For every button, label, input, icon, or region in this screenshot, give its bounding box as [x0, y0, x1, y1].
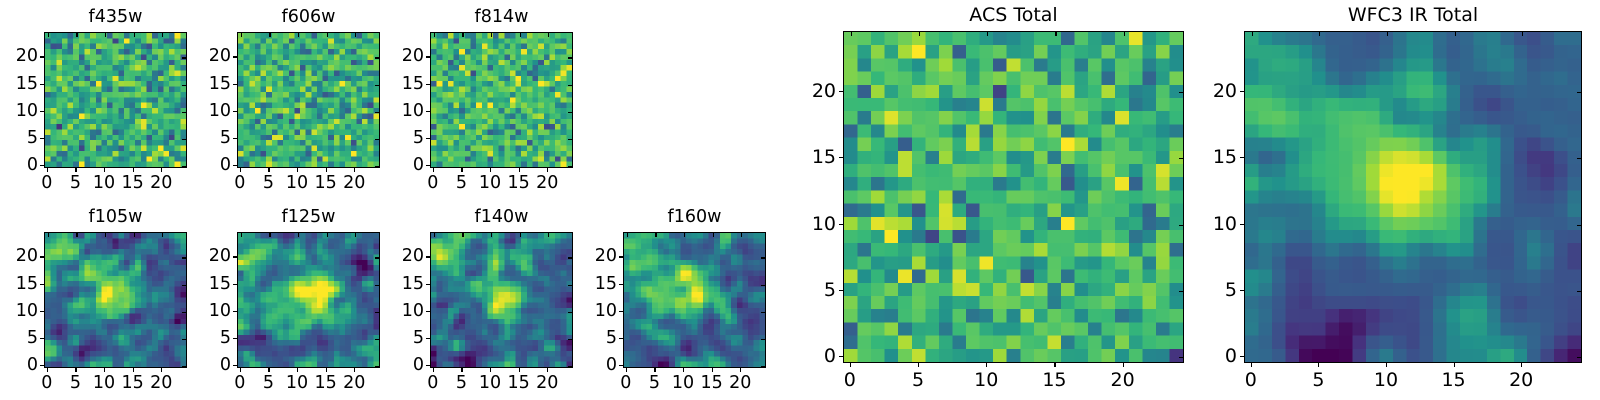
- y-tick-inner: [375, 139, 379, 140]
- x-tick-inner: [1252, 32, 1253, 36]
- x-tick-label: 5: [70, 173, 81, 193]
- x-tick-inner: [48, 233, 49, 237]
- panel-title: f435w: [89, 7, 143, 27]
- y-tick-label: 20: [16, 246, 38, 266]
- y-tick-inner: [568, 257, 572, 258]
- panel-title: f606w: [282, 7, 336, 27]
- y-tick-label: 10: [209, 301, 231, 321]
- x-tick-inner: [520, 233, 521, 237]
- x-tick: [490, 168, 491, 172]
- y-tick-inner: [1179, 92, 1183, 93]
- x-tick: [47, 368, 48, 372]
- x-tick: [986, 363, 987, 367]
- y-tick: [426, 111, 430, 112]
- x-tick-label: 5: [1312, 369, 1324, 391]
- x-tick: [1318, 363, 1319, 367]
- y-tick-inner: [182, 339, 186, 340]
- x-tick-inner: [627, 233, 628, 237]
- x-tick-inner: [919, 32, 920, 36]
- y-tick-label: 5: [27, 128, 38, 148]
- x-tick-label: 15: [315, 173, 337, 193]
- y-tick-inner: [182, 312, 186, 313]
- panel-f606w: f606w0510152005101520: [237, 32, 380, 168]
- y-tick-inner: [182, 285, 186, 286]
- y-tick-inner: [375, 85, 379, 86]
- x-tick-label: 10: [479, 173, 501, 193]
- y-tick: [426, 56, 430, 57]
- y-tick-inner: [1577, 158, 1581, 159]
- y-tick-inner: [568, 85, 572, 86]
- x-tick-inner: [241, 33, 242, 37]
- heatmap-image: [45, 33, 186, 167]
- x-tick-label: 5: [912, 369, 924, 391]
- x-tick-label: 15: [122, 173, 144, 193]
- y-tick: [426, 338, 430, 339]
- x-tick-inner: [741, 233, 742, 237]
- x-tick: [1521, 363, 1522, 367]
- x-tick-label: 10: [479, 373, 501, 393]
- x-tick-label: 0: [620, 373, 631, 393]
- y-tick-inner: [568, 285, 572, 286]
- y-tick-label: 10: [16, 101, 38, 121]
- x-tick-inner: [1124, 32, 1125, 36]
- y-tick: [233, 365, 237, 366]
- y-tick-label: 0: [220, 155, 231, 175]
- x-tick: [433, 368, 434, 372]
- panel-title: f160w: [668, 207, 722, 227]
- x-tick-inner: [987, 32, 988, 36]
- y-tick: [40, 165, 44, 166]
- y-tick: [619, 338, 623, 339]
- y-tick: [839, 290, 843, 291]
- x-tick-label: 20: [536, 173, 558, 193]
- x-tick-inner: [1055, 32, 1056, 36]
- y-tick: [40, 56, 44, 57]
- x-tick-label: 5: [456, 173, 467, 193]
- y-tick-inner: [568, 166, 572, 167]
- x-tick: [133, 368, 134, 372]
- x-tick-inner: [76, 233, 77, 237]
- x-tick-label: 0: [41, 173, 52, 193]
- heatmap-image: [238, 233, 379, 367]
- y-tick-inner: [375, 257, 379, 258]
- y-tick-label: 5: [413, 128, 424, 148]
- x-tick: [461, 168, 462, 172]
- panel-axes: [623, 232, 766, 368]
- y-tick-inner: [1179, 158, 1183, 159]
- y-tick-label: 15: [402, 274, 424, 294]
- x-tick-inner: [462, 233, 463, 237]
- x-tick-inner: [105, 33, 106, 37]
- y-tick-label: 15: [595, 274, 617, 294]
- y-tick-label: 0: [606, 355, 617, 375]
- y-tick: [40, 138, 44, 139]
- y-tick: [619, 256, 623, 257]
- x-tick-label: 15: [701, 373, 723, 393]
- y-tick-label: 20: [209, 46, 231, 66]
- x-tick-label: 10: [974, 369, 998, 391]
- x-tick-label: 10: [672, 373, 694, 393]
- y-tick-inner: [1577, 92, 1581, 93]
- x-tick: [461, 368, 462, 372]
- x-tick-label: 0: [427, 173, 438, 193]
- y-tick-inner: [1577, 291, 1581, 292]
- y-tick: [1240, 157, 1244, 158]
- y-tick: [1240, 356, 1244, 357]
- y-tick: [233, 256, 237, 257]
- x-tick-label: 15: [315, 373, 337, 393]
- x-tick: [75, 368, 76, 372]
- panel-f125w: f125w0510152005101520: [237, 232, 380, 368]
- x-tick: [104, 368, 105, 372]
- x-tick-inner: [1522, 32, 1523, 36]
- x-tick-label: 5: [456, 373, 467, 393]
- y-tick-label: 20: [402, 46, 424, 66]
- y-tick-inner: [568, 366, 572, 367]
- x-tick-inner: [134, 233, 135, 237]
- y-tick-inner: [1179, 291, 1183, 292]
- x-tick: [297, 368, 298, 372]
- y-tick: [619, 284, 623, 285]
- y-tick-inner: [568, 139, 572, 140]
- x-tick: [268, 368, 269, 372]
- y-tick-label: 5: [606, 328, 617, 348]
- y-tick-inner: [1179, 225, 1183, 226]
- y-tick-label: 15: [16, 274, 38, 294]
- y-tick-inner: [182, 112, 186, 113]
- x-tick-inner: [434, 33, 435, 37]
- panel-title: ACS Total: [969, 4, 1057, 26]
- y-tick-inner: [1179, 357, 1183, 358]
- x-tick-label: 15: [1042, 369, 1066, 391]
- y-tick-label: 20: [402, 246, 424, 266]
- x-tick-label: 15: [508, 373, 530, 393]
- x-tick-label: 10: [1374, 369, 1398, 391]
- y-tick-inner: [1577, 225, 1581, 226]
- y-tick-inner: [761, 257, 765, 258]
- y-tick-label: 15: [16, 74, 38, 94]
- figure-canvas: f435w0510152005101520f606w05101520051015…: [0, 0, 1600, 400]
- y-tick-inner: [375, 112, 379, 113]
- x-tick-label: 10: [93, 173, 115, 193]
- panel-axes: [1244, 31, 1582, 363]
- x-tick-label: 0: [844, 369, 856, 391]
- y-tick-label: 20: [209, 246, 231, 266]
- y-tick-label: 10: [1213, 213, 1237, 235]
- y-tick: [40, 311, 44, 312]
- y-tick: [426, 365, 430, 366]
- y-tick-inner: [182, 257, 186, 258]
- panel-title: f140w: [475, 207, 529, 227]
- x-tick-label: 15: [122, 373, 144, 393]
- panel-axes: [843, 31, 1184, 363]
- x-tick-label: 20: [343, 173, 365, 193]
- heatmap-image: [45, 233, 186, 367]
- y-tick: [839, 224, 843, 225]
- x-tick: [683, 368, 684, 372]
- y-tick: [426, 165, 430, 166]
- x-tick: [547, 168, 548, 172]
- panel-f160w: f160w0510152005101520: [623, 232, 766, 368]
- y-tick-label: 20: [16, 46, 38, 66]
- x-tick: [1454, 363, 1455, 367]
- x-tick-inner: [1455, 32, 1456, 36]
- heatmap-image: [844, 32, 1183, 362]
- x-tick: [297, 168, 298, 172]
- x-tick-inner: [269, 233, 270, 237]
- y-tick-label: 15: [402, 74, 424, 94]
- x-tick-label: 0: [234, 173, 245, 193]
- x-tick-inner: [520, 33, 521, 37]
- panel-f814w: f814w0510152005101520: [430, 32, 573, 168]
- x-tick-label: 5: [649, 373, 660, 393]
- y-tick: [619, 365, 623, 366]
- x-tick-label: 0: [234, 373, 245, 393]
- y-tick-label: 15: [209, 74, 231, 94]
- x-tick-label: 20: [1509, 369, 1533, 391]
- x-tick: [161, 168, 162, 172]
- x-tick-inner: [434, 233, 435, 237]
- x-tick-inner: [355, 33, 356, 37]
- y-tick-label: 10: [595, 301, 617, 321]
- panel-axes: [237, 32, 380, 168]
- y-tick-inner: [375, 285, 379, 286]
- x-tick-inner: [241, 233, 242, 237]
- y-tick: [1240, 91, 1244, 92]
- y-tick: [1240, 290, 1244, 291]
- y-tick-label: 20: [812, 80, 836, 102]
- y-tick: [40, 284, 44, 285]
- x-tick-label: 15: [1441, 369, 1465, 391]
- y-tick-inner: [375, 312, 379, 313]
- x-tick-inner: [548, 33, 549, 37]
- y-tick: [426, 311, 430, 312]
- x-tick-label: 20: [1111, 369, 1135, 391]
- y-tick-inner: [182, 139, 186, 140]
- y-tick-inner: [375, 166, 379, 167]
- x-tick-inner: [1387, 32, 1388, 36]
- y-tick-inner: [761, 285, 765, 286]
- x-tick-inner: [298, 233, 299, 237]
- y-tick-label: 15: [1213, 146, 1237, 168]
- x-tick-label: 15: [508, 173, 530, 193]
- heatmap-image: [431, 233, 572, 367]
- panel-axes: [430, 232, 573, 368]
- x-tick-label: 0: [427, 373, 438, 393]
- x-tick: [1054, 363, 1055, 367]
- y-tick-inner: [375, 57, 379, 58]
- x-tick-inner: [851, 32, 852, 36]
- y-tick: [1240, 224, 1244, 225]
- panel-f105w: f105w0510152005101520: [44, 232, 187, 368]
- y-tick-inner: [568, 57, 572, 58]
- x-tick: [354, 368, 355, 372]
- x-tick-label: 20: [150, 173, 172, 193]
- x-tick: [547, 368, 548, 372]
- x-tick: [433, 168, 434, 172]
- y-tick-label: 20: [1213, 80, 1237, 102]
- x-tick: [654, 368, 655, 372]
- x-tick-inner: [162, 33, 163, 37]
- y-tick-inner: [568, 312, 572, 313]
- heatmap-image: [238, 33, 379, 167]
- y-tick-label: 10: [812, 213, 836, 235]
- panel-axes: [430, 32, 573, 168]
- x-tick: [104, 168, 105, 172]
- y-tick-inner: [182, 57, 186, 58]
- y-tick-inner: [761, 339, 765, 340]
- x-tick: [326, 368, 327, 372]
- y-tick-inner: [761, 312, 765, 313]
- x-tick-label: 10: [286, 373, 308, 393]
- x-tick: [519, 368, 520, 372]
- y-tick-label: 20: [595, 246, 617, 266]
- x-tick: [1123, 363, 1124, 367]
- x-tick-label: 20: [536, 373, 558, 393]
- x-tick-inner: [327, 33, 328, 37]
- panel-title: f105w: [89, 207, 143, 227]
- y-tick-inner: [568, 112, 572, 113]
- y-tick: [233, 284, 237, 285]
- x-tick-inner: [298, 33, 299, 37]
- x-tick-inner: [76, 33, 77, 37]
- x-tick-label: 0: [1245, 369, 1257, 391]
- x-tick-inner: [462, 33, 463, 37]
- y-tick-label: 5: [220, 128, 231, 148]
- y-tick: [40, 84, 44, 85]
- x-tick-label: 5: [70, 373, 81, 393]
- x-tick: [268, 168, 269, 172]
- heatmap-image: [1245, 32, 1581, 362]
- y-tick-inner: [375, 366, 379, 367]
- y-tick: [233, 56, 237, 57]
- y-tick: [839, 91, 843, 92]
- y-tick-label: 5: [413, 328, 424, 348]
- x-tick-label: 20: [150, 373, 172, 393]
- x-tick: [918, 363, 919, 367]
- panel-f140w: f140w0510152005101520: [430, 232, 573, 368]
- heatmap-image: [624, 233, 765, 367]
- x-tick-label: 20: [343, 373, 365, 393]
- y-tick: [233, 111, 237, 112]
- y-tick-label: 5: [27, 328, 38, 348]
- x-tick-inner: [105, 233, 106, 237]
- x-tick-label: 10: [286, 173, 308, 193]
- y-tick-label: 0: [27, 355, 38, 375]
- x-tick: [326, 168, 327, 172]
- panel-f435w: f435w0510152005101520: [44, 32, 187, 168]
- x-tick-inner: [491, 33, 492, 37]
- y-tick-label: 0: [413, 355, 424, 375]
- x-tick: [240, 168, 241, 172]
- y-tick: [426, 256, 430, 257]
- y-tick: [233, 311, 237, 312]
- y-tick: [233, 338, 237, 339]
- y-tick-label: 0: [413, 155, 424, 175]
- y-tick-inner: [182, 85, 186, 86]
- y-tick-label: 0: [220, 355, 231, 375]
- y-tick-label: 0: [27, 155, 38, 175]
- y-tick-label: 0: [1225, 345, 1237, 367]
- y-tick-label: 5: [1225, 279, 1237, 301]
- panel-axes: [44, 32, 187, 168]
- panel-title: f814w: [475, 7, 529, 27]
- panel-axes: [44, 232, 187, 368]
- y-tick-label: 10: [16, 301, 38, 321]
- y-tick-label: 5: [824, 279, 836, 301]
- y-tick: [233, 138, 237, 139]
- x-tick-inner: [684, 233, 685, 237]
- x-tick-inner: [491, 233, 492, 237]
- x-tick: [740, 368, 741, 372]
- x-tick-inner: [134, 33, 135, 37]
- y-tick: [233, 165, 237, 166]
- y-tick-inner: [1577, 357, 1581, 358]
- y-tick-label: 15: [209, 274, 231, 294]
- x-tick-inner: [548, 233, 549, 237]
- x-tick-label: 5: [263, 173, 274, 193]
- y-tick: [40, 256, 44, 257]
- y-tick-label: 10: [402, 101, 424, 121]
- x-tick-inner: [162, 233, 163, 237]
- y-tick: [426, 84, 430, 85]
- x-tick: [75, 168, 76, 172]
- y-tick-label: 0: [824, 345, 836, 367]
- y-tick: [619, 311, 623, 312]
- x-tick: [850, 363, 851, 367]
- x-tick-label: 5: [263, 373, 274, 393]
- y-tick: [426, 284, 430, 285]
- y-tick: [40, 365, 44, 366]
- x-tick-label: 10: [93, 373, 115, 393]
- x-tick: [490, 368, 491, 372]
- x-tick: [1386, 363, 1387, 367]
- y-tick-label: 15: [812, 146, 836, 168]
- x-tick: [519, 168, 520, 172]
- x-tick-inner: [327, 233, 328, 237]
- x-tick: [161, 368, 162, 372]
- x-tick-inner: [1319, 32, 1320, 36]
- panel-wfc3-ir-total: WFC3 IR Total0510152005101520: [1244, 31, 1582, 363]
- y-tick-label: 10: [402, 301, 424, 321]
- x-tick-label: 0: [41, 373, 52, 393]
- x-tick: [626, 368, 627, 372]
- x-tick-inner: [48, 33, 49, 37]
- panel-acs-total: ACS Total0510152005101520: [843, 31, 1184, 363]
- y-tick-label: 5: [220, 328, 231, 348]
- y-tick-inner: [182, 166, 186, 167]
- y-tick-inner: [761, 366, 765, 367]
- x-tick-inner: [269, 33, 270, 37]
- x-tick: [1251, 363, 1252, 367]
- x-tick: [240, 368, 241, 372]
- y-tick-inner: [182, 366, 186, 367]
- heatmap-image: [431, 33, 572, 167]
- panel-axes: [237, 232, 380, 368]
- x-tick: [133, 168, 134, 172]
- y-tick: [233, 84, 237, 85]
- x-tick: [47, 168, 48, 172]
- x-tick-inner: [713, 233, 714, 237]
- y-tick-inner: [568, 339, 572, 340]
- x-tick: [354, 168, 355, 172]
- y-tick-label: 10: [209, 101, 231, 121]
- y-tick: [839, 157, 843, 158]
- y-tick: [40, 338, 44, 339]
- y-tick: [426, 138, 430, 139]
- x-tick-inner: [355, 233, 356, 237]
- y-tick: [40, 111, 44, 112]
